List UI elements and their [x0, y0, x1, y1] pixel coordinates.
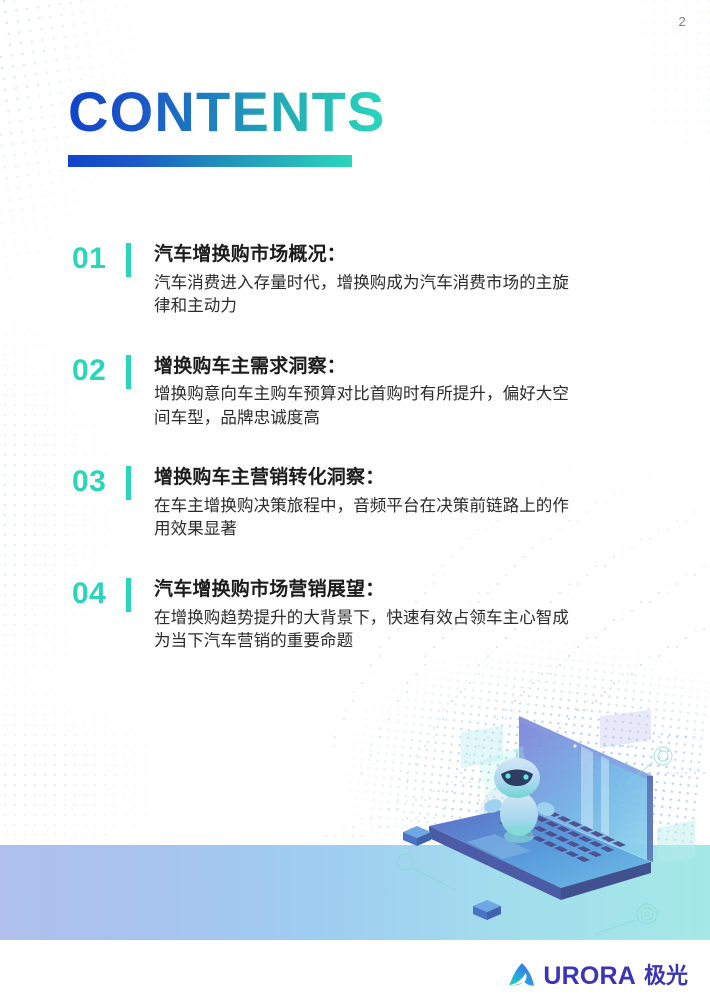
contents-item-divider [126, 243, 131, 277]
page-title: CONTENTS [68, 84, 386, 140]
contents-item-text: 增换购车主需求洞察： 增换购意向车主购车预算对比首购时有所提升，偏好大空间车型，… [154, 355, 592, 431]
slide-page: 2 CONTENTS 01 汽车增换购市场概况： 汽车消费进入存量时代，增换购成… [0, 0, 710, 1004]
footer-logo: URORA 极光 [507, 961, 688, 991]
contents-item-divider [126, 578, 131, 612]
footer-gradient-band [0, 845, 710, 940]
contents-item-heading: 汽车增换购市场营销展望： [154, 578, 592, 602]
contents-item-01[interactable]: 01 汽车增换购市场概况： 汽车消费进入存量时代，增换购成为汽车消费市场的主旋律… [72, 243, 592, 319]
contents-item-04[interactable]: 04 汽车增换购市场营销展望： 在增换购趋势提升的大背景下，快速有效占领车主心智… [72, 578, 592, 654]
dotted-arc-background-bottom-left [0, 640, 290, 870]
page-number: 2 [678, 14, 686, 29]
contents-item-text: 汽车增换购市场概况： 汽车消费进入存量时代，增换购成为汽车消费市场的主旋律和主动… [154, 243, 592, 319]
contents-item-text: 增换购车主营销转化洞察： 在车主增换购决策旅程中，音频平台在决策前链路上的作用效… [154, 466, 592, 542]
contents-item-number: 04 [72, 578, 126, 609]
logo-text-cn: 极光 [644, 965, 688, 987]
contents-item-03[interactable]: 03 增换购车主营销转化洞察： 在车主增换购决策旅程中，音频平台在决策前链路上的… [72, 466, 592, 542]
logo-text-en: URORA [543, 964, 636, 989]
contents-item-body: 汽车消费进入存量时代，增换购成为汽车消费市场的主旋律和主动力 [154, 272, 579, 319]
contents-item-heading: 汽车增换购市场概况： [154, 243, 592, 267]
contents-item-02[interactable]: 02 增换购车主需求洞察： 增换购意向车主购车预算对比首购时有所提升，偏好大空间… [72, 355, 592, 431]
contents-item-body: 在车主增换购决策旅程中，音频平台在决策前链路上的作用效果显著 [154, 495, 579, 542]
contents-item-body: 在增换购趋势提升的大背景下，快速有效占领车主心智成为当下汽车营销的重要命题 [154, 607, 579, 654]
contents-item-number: 01 [72, 243, 126, 274]
contents-item-heading: 增换购车主需求洞察： [154, 355, 592, 379]
floating-cube [403, 826, 431, 846]
aurora-a-mark-icon [507, 961, 537, 991]
contents-list: 01 汽车增换购市场概况： 汽车消费进入存量时代，增换购成为汽车消费市场的主旋律… [72, 243, 592, 653]
contents-item-heading: 增换购车主营销转化洞察： [154, 466, 592, 490]
contents-item-number: 02 [72, 355, 126, 386]
page-title-block: CONTENTS [68, 84, 386, 167]
contents-item-divider [126, 466, 131, 500]
contents-item-divider [126, 355, 131, 389]
contents-item-text: 汽车增换购市场营销展望： 在增换购趋势提升的大背景下，快速有效占领车主心智成为当… [154, 578, 592, 654]
title-underline-bar [68, 155, 352, 167]
contents-item-number: 03 [72, 466, 126, 497]
contents-item-body: 增换购意向车主购车预算对比首购时有所提升，偏好大空间车型，品牌忠诚度高 [154, 383, 579, 430]
